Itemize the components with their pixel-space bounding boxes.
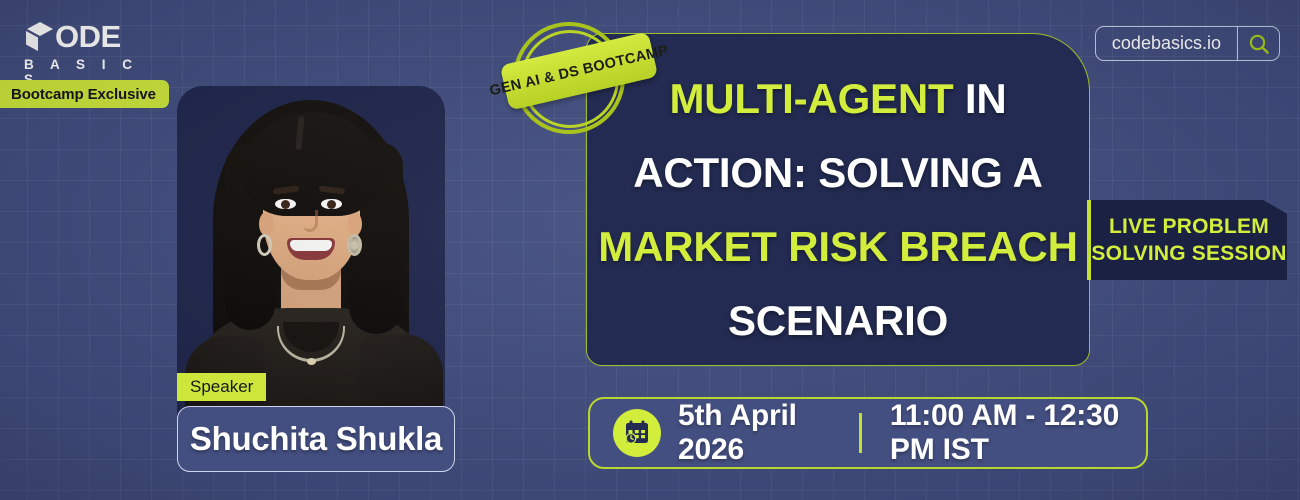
event-date: 5th April 2026 xyxy=(678,399,825,467)
bootcamp-exclusive-badge: Bootcamp Exclusive xyxy=(0,80,169,108)
title-line2: ACTION: SOLVING A xyxy=(633,149,1043,196)
logo-wordmark: ODE xyxy=(55,20,121,54)
live-session-badge: LIVE PROBLEM SOLVING SESSION xyxy=(1087,200,1287,280)
schedule-bar: 5th April 2026 11:00 AM - 12:30 PM IST xyxy=(588,397,1148,469)
calendar-clock-icon xyxy=(613,409,661,457)
website-url-bar[interactable]: codebasics.io xyxy=(1095,26,1280,61)
schedule-divider xyxy=(859,413,862,453)
webinar-banner: ODE B A S I C S Bootcamp Exclusive xyxy=(0,0,1300,500)
title-line1-rest: IN xyxy=(965,75,1007,122)
title-line4: SCENARIO xyxy=(728,297,948,344)
title-line3: MARKET RISK BREACH xyxy=(598,223,1077,270)
title-panel: MULTI-AGENT IN ACTION: SOLVING A MARKET … xyxy=(586,33,1090,366)
speaker-label: Speaker xyxy=(177,373,266,401)
event-time: 11:00 AM - 12:30 PM IST xyxy=(890,399,1146,467)
website-url-text: codebasics.io xyxy=(1096,27,1237,60)
cube-logo-icon xyxy=(20,20,54,54)
bootcamp-stamp-badge: GEN AI & DS BOOTCAMP xyxy=(505,18,653,136)
live-badge-line1: LIVE PROBLEM xyxy=(1109,213,1269,240)
codebasics-logo[interactable]: ODE B A S I C S xyxy=(20,20,160,87)
page-title: MULTI-AGENT IN ACTION: SOLVING A MARKET … xyxy=(587,62,1089,358)
title-line1-highlight: MULTI-AGENT xyxy=(669,75,953,122)
speaker-name: Shuchita Shukla xyxy=(190,420,442,458)
live-badge-line2: SOLVING SESSION xyxy=(1091,240,1286,267)
search-icon[interactable] xyxy=(1237,27,1279,60)
stamp-label: GEN AI & DS BOOTCAMP xyxy=(488,43,670,100)
speaker-name-box: Shuchita Shukla xyxy=(177,406,455,472)
